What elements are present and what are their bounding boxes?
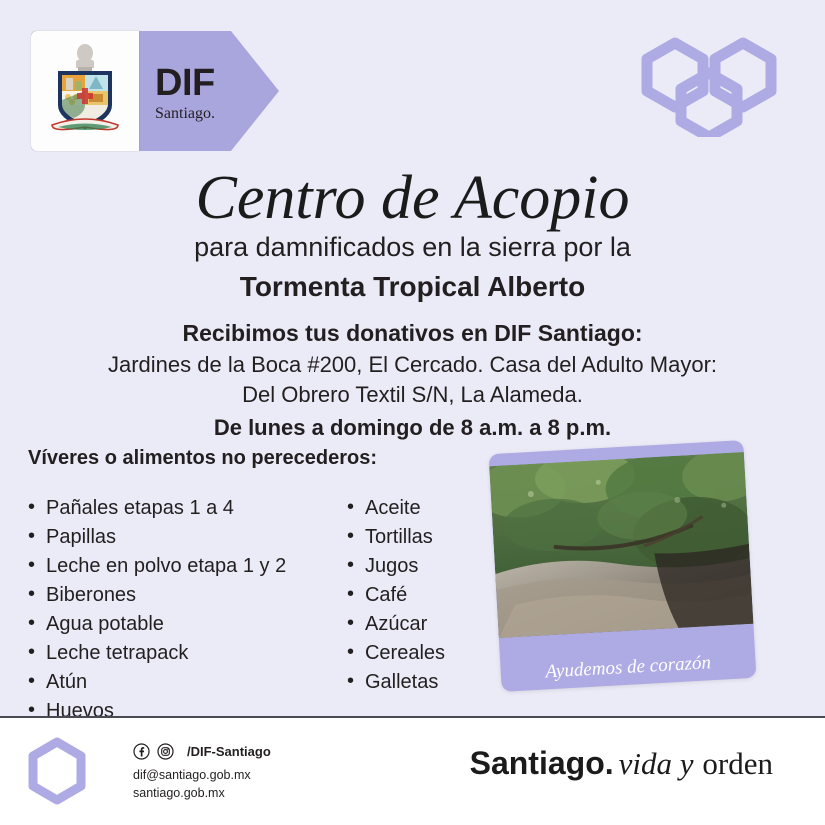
contact-website[interactable]: santiago.gob.mx [133,784,251,802]
social-links[interactable]: /DIF-Santiago [133,743,271,760]
dif-banner: DIF Santiago. [31,31,279,151]
brand-name: Santiago. [470,745,614,781]
list-item: Atún [28,669,297,695]
list-item: Tortillas [347,524,498,550]
list-item: Leche tetrapack [28,640,297,666]
dif-wordmark: DIF Santiago. [155,64,265,122]
supplies-column-right: Aceite Tortillas Jugos Café Azúcar Cerea… [347,495,498,727]
hexagon-outline-icon [26,737,88,805]
supplies-column-left: Pañales etapas 1 a 4 Papillas Leche en p… [28,495,297,727]
brand-tagline-roman: orden [702,746,773,781]
list-item: Leche en polvo etapa 1 y 2 [28,553,297,579]
list-item: Biberones [28,582,297,608]
santiago-brand-lockup: Santiago.vida y orden [470,745,773,782]
address-line-1: Recibimos tus donativos en DIF Santiago: [0,318,825,350]
facebook-icon[interactable] [133,743,150,760]
list-item: Pañales etapas 1 a 4 [28,495,297,521]
donation-address-block: Recibimos tus donativos en DIF Santiago:… [0,318,825,444]
list-item: Aceite [347,495,498,521]
flood-photo-image [489,452,753,638]
brand-tagline-italic: vida y [619,746,694,781]
contact-email[interactable]: dif@santiago.gob.mx [133,766,251,784]
list-item: Azúcar [347,611,498,637]
list-item: Papillas [28,524,297,550]
social-handle[interactable]: /DIF-Santiago [187,744,271,759]
dif-logo-card [31,31,139,151]
page-title: Centro de Acopio [0,167,825,229]
address-line-2: Jardines de la Boca #200, El Cercado. Ca… [0,350,825,380]
page-subtitle-emphasis: Tormenta Tropical Alberto [0,272,825,303]
list-item: Cereales [347,640,498,666]
flood-photo [489,452,753,638]
address-hours: De lunes a domingo de 8 a.m. a 8 p.m. [0,413,825,443]
photo-card: Ayudemos de corazón [489,440,757,692]
santiago-coat-of-arms [48,43,122,139]
list-item: Agua potable [28,611,297,637]
address-line-3: Del Obrero Textil S/N, La Alameda. [0,380,825,410]
supplies-list-right: Aceite Tortillas Jugos Café Azúcar Cerea… [347,495,498,695]
dif-word: DIF [155,64,265,102]
supplies-list-left: Pañales etapas 1 a 4 Papillas Leche en p… [28,495,297,724]
hexagon-heart-icon [633,27,785,137]
list-item: Galletas [347,669,498,695]
instagram-icon[interactable] [157,743,174,760]
list-item: Jugos [347,553,498,579]
page-subtitle: para damnificados en la sierra por la [0,233,825,263]
poster-root: DIF Santiago. Centro de Acopio para damn… [0,0,825,825]
list-item: Café [347,582,498,608]
contact-info: dif@santiago.gob.mx santiago.gob.mx [133,766,251,802]
supplies-heading: Víveres o alimentos no perecederos: [28,447,377,470]
dif-subword: Santiago. [155,106,265,122]
supplies-columns: Pañales etapas 1 a 4 Papillas Leche en p… [28,495,498,727]
